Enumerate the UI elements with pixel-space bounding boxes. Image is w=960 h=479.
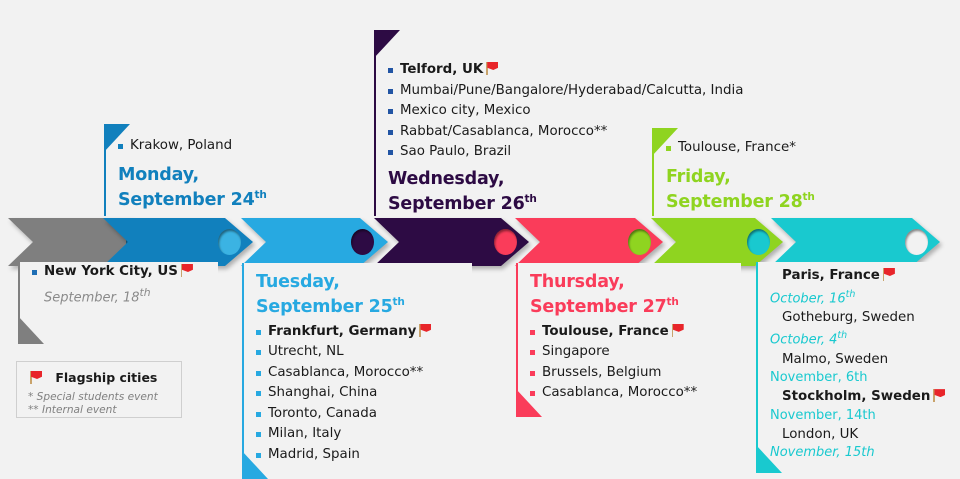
city-label: Toulouse, France* xyxy=(678,140,796,155)
day-name: Tuesday, xyxy=(256,272,472,292)
city-label: Mexico city, Mexico xyxy=(400,103,531,118)
list-item: Mexico city, Mexico xyxy=(388,101,794,122)
chevron-friday[interactable] xyxy=(651,218,783,266)
city-label: Toronto, Canada xyxy=(268,406,377,421)
event-date: November, 15th xyxy=(770,444,956,462)
card-newyork: New York City, US September, 18th xyxy=(18,262,218,318)
city-label: Telford, UK xyxy=(400,62,483,77)
flag-icon xyxy=(179,264,195,277)
chevron-monday[interactable] xyxy=(103,218,253,266)
bullet-icon xyxy=(32,270,37,275)
chevron-node-dot xyxy=(628,229,651,255)
city-label: Stockholm, Sweden xyxy=(782,389,930,404)
list-item: Toronto, Canada xyxy=(256,404,472,425)
bullet-icon xyxy=(256,330,261,335)
card-body: Tuesday, September 25th Frankfurt, Germa… xyxy=(242,263,472,465)
bullet-icon xyxy=(388,68,393,73)
list-item: Mumbai/Pune/Bangalore/Hyderabad/Calcutta… xyxy=(388,81,794,102)
card-day-title: Friday, September 28th xyxy=(666,159,852,212)
chevron-wednesday[interactable] xyxy=(374,218,529,266)
day-date: September 24th xyxy=(118,185,319,210)
bullet-icon xyxy=(118,144,123,149)
chevron-tuesday[interactable] xyxy=(241,218,388,266)
card-body: Thursday, September 27th Toulouse, Franc… xyxy=(516,263,741,404)
city-label: London, UK xyxy=(782,427,858,442)
bullet-icon xyxy=(666,146,671,151)
city-label: Madrid, Spain xyxy=(268,447,360,462)
date-suffix: th xyxy=(846,289,856,300)
city-list: Krakow, Poland xyxy=(118,124,319,157)
city-label: Gotheburg, Sweden xyxy=(782,310,915,325)
city-label: Shanghai, China xyxy=(268,385,377,400)
city-list: Frankfurt, GermanyUtrecht, NLCasablanca,… xyxy=(256,317,472,466)
city-label: Milan, Italy xyxy=(268,426,341,441)
timeline-infographic: New York City, US September, 18th Krakow… xyxy=(0,0,960,472)
card-body: Paris, FranceOctober, 16thGotheburg, Swe… xyxy=(756,262,956,462)
legend-title-row: Flagship cities xyxy=(17,362,181,385)
day-name: Thursday, xyxy=(530,272,741,292)
city-label: Krakow, Poland xyxy=(130,138,232,153)
bullet-icon xyxy=(256,412,261,417)
list-item: Frankfurt, Germany xyxy=(256,322,472,343)
city-label: Brussels, Belgium xyxy=(542,365,661,380)
city-date-list: Paris, FranceOctober, 16thGotheburg, Swe… xyxy=(770,266,956,462)
bullet-icon xyxy=(256,432,261,437)
chevron-end[interactable] xyxy=(771,218,940,266)
chevron-node-dot xyxy=(494,229,517,255)
bullet-icon xyxy=(530,330,535,335)
city-label: Mumbai/Pune/Bangalore/Hyderabad/Calcutta… xyxy=(400,83,743,98)
card-body: New York City, US September, 18th xyxy=(18,262,218,307)
bullet-icon xyxy=(256,350,261,355)
card-friday: Toulouse, France* Friday, September 28th xyxy=(652,128,852,216)
bullet-icon xyxy=(256,371,261,376)
list-item: Malmo, Sweden xyxy=(770,350,956,370)
city-label: Sao Paulo, Brazil xyxy=(400,144,511,159)
list-item: Toulouse, France* xyxy=(666,138,852,159)
card-date: September, 18th xyxy=(32,283,218,307)
day-name: Monday, xyxy=(118,165,319,185)
timeline-chevron-band-render xyxy=(0,218,960,266)
list-item: London, UK xyxy=(770,425,956,445)
list-item: Milan, Italy xyxy=(256,424,472,445)
card-autumn-dates: Paris, FranceOctober, 16thGotheburg, Swe… xyxy=(756,262,956,447)
city-label: Toulouse, France xyxy=(542,324,669,339)
day-date: September 28th xyxy=(666,187,852,212)
list-item: Brussels, Belgium xyxy=(530,363,741,384)
event-date: October, 16th xyxy=(770,286,956,308)
list-item: Madrid, Spain xyxy=(256,445,472,466)
bullet-icon xyxy=(388,109,393,114)
chevron-node-dot xyxy=(905,229,928,255)
chevron-thursday[interactable] xyxy=(515,218,663,266)
bullet-icon xyxy=(388,130,393,135)
bullet-icon xyxy=(530,350,535,355)
card-monday: Krakow, Poland Monday, September 24th xyxy=(104,124,319,216)
list-item: Casablanca, Morocco** xyxy=(530,383,741,404)
chevron-node-dot xyxy=(351,229,374,255)
bullet-icon xyxy=(530,391,535,396)
flag-icon xyxy=(28,371,44,384)
list-item: Krakow, Poland xyxy=(118,136,319,157)
city-label: Casablanca, Morocco** xyxy=(268,365,423,380)
card-day-title: Monday, September 24th xyxy=(118,157,319,210)
event-date: November, 6th xyxy=(770,369,956,387)
list-item: Singapore xyxy=(530,342,741,363)
city-list: New York City, US xyxy=(32,262,218,283)
flag-icon xyxy=(670,324,686,337)
card-thursday: Thursday, September 27th Toulouse, Franc… xyxy=(516,263,741,391)
city-label: Casablanca, Morocco** xyxy=(542,385,697,400)
chevron-node-dot xyxy=(747,229,770,255)
city-list: Toulouse, France* xyxy=(666,128,852,159)
list-item: Casablanca, Morocco** xyxy=(256,363,472,384)
list-item: Telford, UK xyxy=(388,60,794,81)
city-label: Rabbat/Casablanca, Morocco** xyxy=(400,124,607,139)
day-name: Friday, xyxy=(666,167,852,187)
flag-icon xyxy=(881,268,897,281)
bullet-icon xyxy=(388,89,393,94)
bullet-icon xyxy=(388,150,393,155)
flag-icon xyxy=(417,324,433,337)
card-fold-corner xyxy=(18,316,44,344)
card-day-title: Tuesday, September 25th xyxy=(256,263,472,317)
city-label: Singapore xyxy=(542,344,610,359)
card-body: Krakow, Poland Monday, September 24th xyxy=(104,124,319,209)
list-item: Paris, France xyxy=(770,266,956,286)
legend-title: Flagship cities xyxy=(55,370,157,385)
list-item: Shanghai, China xyxy=(256,383,472,404)
list-item: Gotheburg, Sweden xyxy=(770,308,956,328)
flag-icon xyxy=(931,389,947,402)
chevron-node-dot xyxy=(218,229,241,255)
bullet-icon xyxy=(256,391,261,396)
card-body: Toulouse, France* Friday, September 28th xyxy=(652,128,852,211)
date-suffix: th xyxy=(837,330,847,341)
card-tuesday: Tuesday, September 25th Frankfurt, Germa… xyxy=(242,263,472,453)
city-list: Toulouse, FranceSingaporeBrussels, Belgi… xyxy=(530,317,741,404)
legend-note-2: ** Internal event xyxy=(17,404,181,417)
bullet-icon xyxy=(256,453,261,458)
city-label: Malmo, Sweden xyxy=(782,352,888,367)
city-label: Paris, France xyxy=(782,268,880,283)
list-item: Utrecht, NL xyxy=(256,342,472,363)
bullet-icon xyxy=(530,371,535,376)
day-date: September 27th xyxy=(530,292,741,317)
city-label: New York City, US xyxy=(44,264,178,279)
legend-box: Flagship cities * Special students event… xyxy=(16,361,182,418)
legend-note-1: * Special students event xyxy=(17,391,181,404)
list-item: Toulouse, France xyxy=(530,322,741,343)
flag-icon xyxy=(484,62,500,75)
list-item: New York City, US xyxy=(32,262,218,283)
city-label: Frankfurt, Germany xyxy=(268,324,416,339)
event-date: October, 4th xyxy=(770,327,956,349)
list-item: Stockholm, Sweden xyxy=(770,387,956,407)
event-date: November, 14th xyxy=(770,407,956,425)
card-day-title: Thursday, September 27th xyxy=(530,263,741,317)
day-date: September 25th xyxy=(256,292,472,317)
city-label: Utrecht, NL xyxy=(268,344,344,359)
